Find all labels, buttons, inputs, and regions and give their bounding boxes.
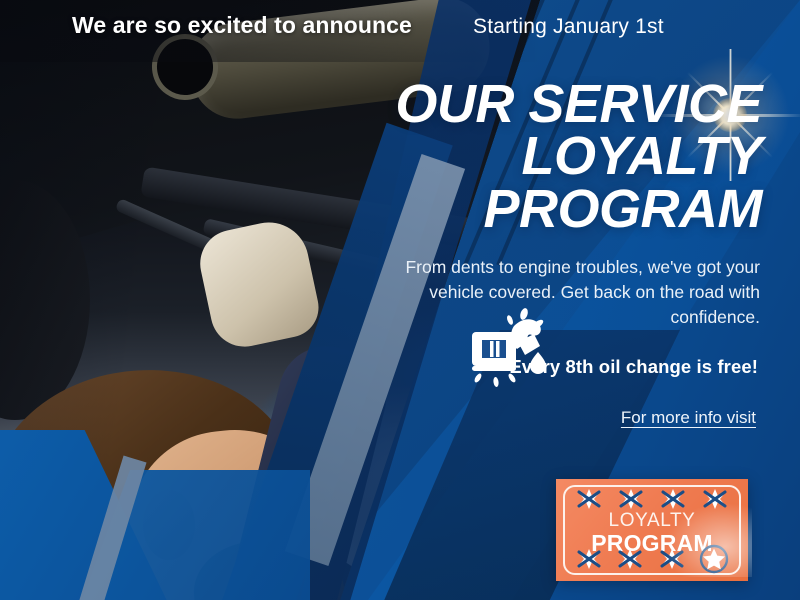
x-stamp-icon (617, 488, 645, 510)
more-info-link-label: For more info visit (621, 408, 756, 427)
description-text: From dents to engine troubles, we've got… (380, 255, 770, 330)
page-title: OUR SERVICE LOYALTY PROGRAM (380, 78, 770, 235)
offer-text: Every 8th oil change is free! (380, 356, 770, 378)
right-content-column: OUR SERVICE LOYALTY PROGRAM From dents t… (380, 78, 770, 428)
start-date-text: Starting January 1st (473, 15, 664, 39)
stamp-row-top (568, 488, 736, 510)
x-stamp-icon (575, 548, 603, 570)
loyalty-card: LOYALTY PROGRAM (556, 479, 748, 581)
x-stamp-icon (659, 488, 687, 510)
headline-line-2: LOYALTY (380, 130, 770, 182)
x-stamp-icon (701, 488, 729, 510)
stamp-row-bottom (568, 544, 736, 574)
more-info-link[interactable]: For more info visit (380, 408, 770, 428)
loyalty-card-title: LOYALTY (556, 511, 748, 530)
star-icon (699, 544, 729, 574)
x-stamp-icon (616, 548, 644, 570)
headline-line-3: PROGRAM (380, 183, 770, 235)
headline-line-1: OUR SERVICE (380, 78, 770, 130)
flyer-canvas: We are so excited to announce Starting J… (0, 0, 800, 600)
x-stamp-icon (575, 488, 603, 510)
tagline-text: We are so excited to announce (72, 12, 412, 39)
x-stamp-icon (658, 548, 686, 570)
